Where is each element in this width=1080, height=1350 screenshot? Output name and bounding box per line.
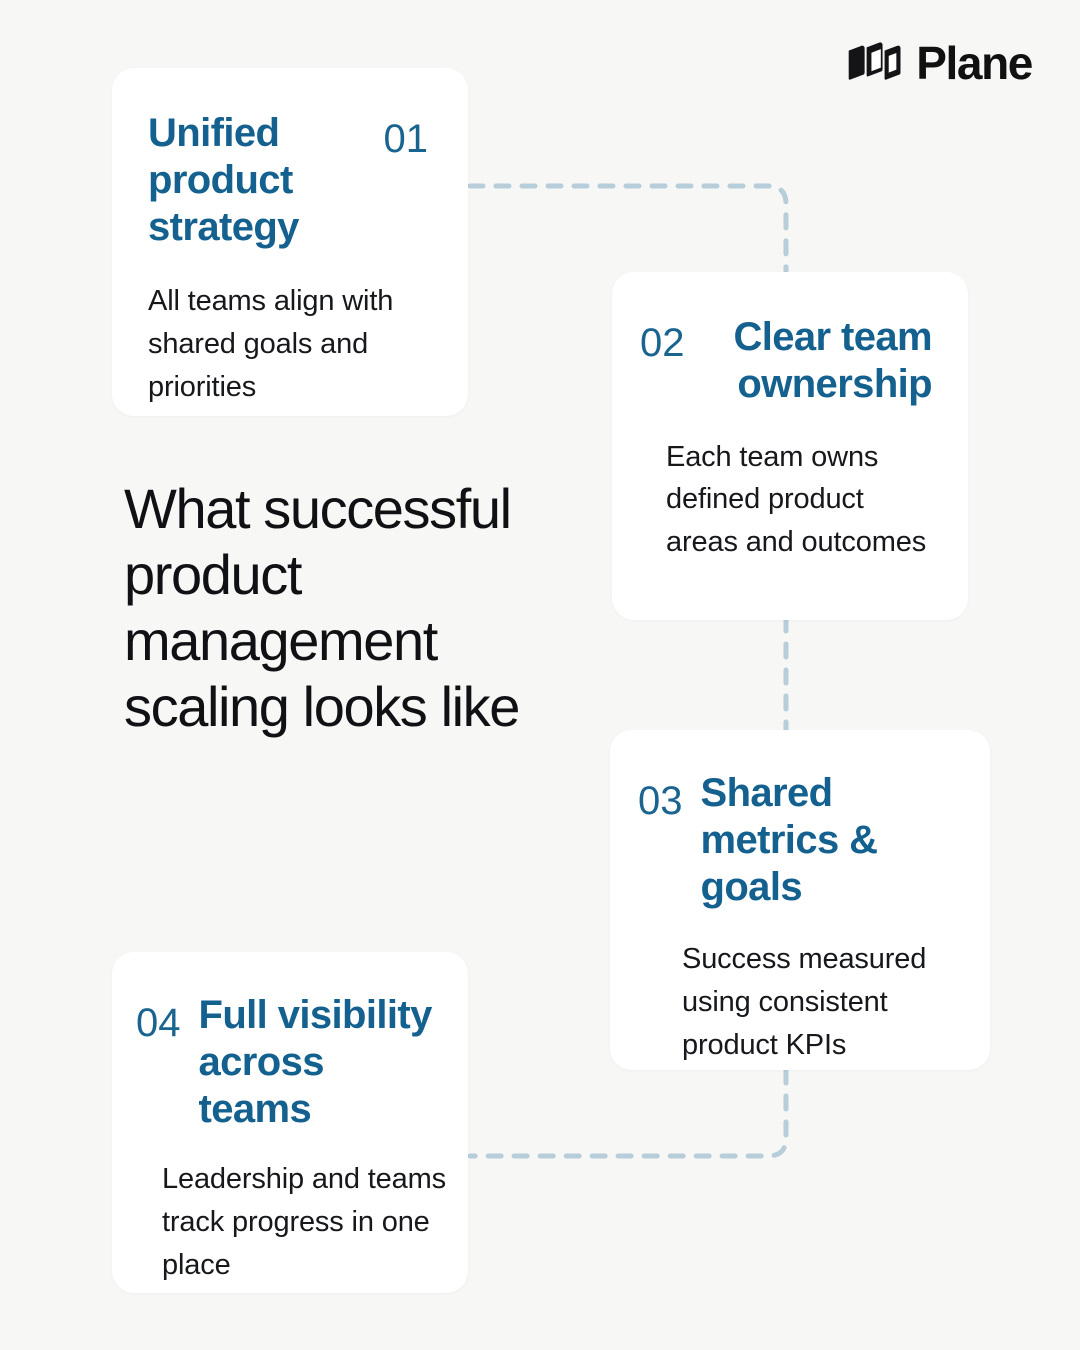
card-header: Unified product strategy 01: [148, 110, 428, 250]
plane-logo-icon: [846, 40, 902, 86]
page-title: What successful product management scali…: [124, 476, 524, 740]
card-title: Shared metrics & goals: [701, 770, 969, 910]
card-title: Clear team ownership: [703, 314, 933, 408]
card-description: Each team owns defined product areas and…: [640, 436, 932, 564]
card-title: Unified product strategy: [148, 110, 366, 250]
card-description: All teams align with shared goals and pr…: [148, 280, 428, 408]
card-number: 01: [384, 110, 429, 160]
card-description: Leadership and teams track progress in o…: [136, 1158, 446, 1286]
card-number: 02: [640, 314, 685, 364]
card-header: 02 Clear team ownership: [640, 314, 932, 408]
connector-03-to-04: [470, 1070, 786, 1156]
card-header: 03 Shared metrics & goals: [638, 770, 968, 910]
card-title: Full visibility across teams: [199, 992, 447, 1132]
connector-01-to-02: [470, 186, 786, 276]
brand-logo: Plane: [846, 40, 1032, 86]
infographic-canvas: Plane Unified product strategy 01 All te…: [0, 0, 1080, 1350]
step-card-04[interactable]: 04 Full visibility across teams Leadersh…: [112, 952, 468, 1293]
card-description: Success measured using consistent produc…: [638, 938, 968, 1066]
card-header: 04 Full visibility across teams: [136, 992, 446, 1132]
step-card-02[interactable]: 02 Clear team ownership Each team owns d…: [612, 272, 968, 620]
card-number: 04: [136, 992, 181, 1044]
step-card-03[interactable]: 03 Shared metrics & goals Success measur…: [610, 730, 990, 1070]
step-card-01[interactable]: Unified product strategy 01 All teams al…: [112, 68, 468, 416]
card-number: 03: [638, 770, 683, 822]
brand-name: Plane: [916, 40, 1032, 86]
